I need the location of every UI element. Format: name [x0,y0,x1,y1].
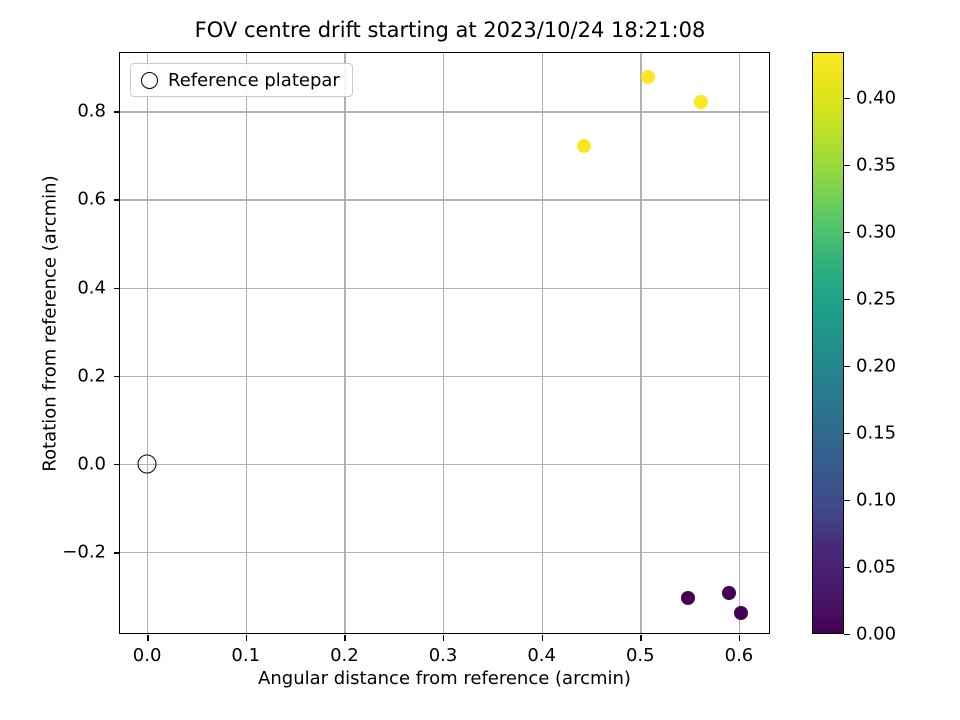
scatter-points-layer [120,53,769,633]
colorbar-tick [844,299,850,300]
x-axis-tick-label: 0.2 [330,645,359,666]
colorbar-tick-label: 0.20 [856,355,896,376]
colorbar-tick-label: 0.10 [856,489,896,510]
colorbar-tick [844,98,850,99]
x-axis-tick [739,635,740,641]
colorbar-tick [844,232,850,233]
x-axis-tick [443,635,444,641]
scatter-point [694,95,708,109]
y-axis-tick [114,552,120,553]
colorbar-tick-label: 0.00 [856,624,896,645]
y-axis-tick [114,111,120,112]
colorbar-tick-label: 0.25 [856,288,896,309]
scatter-point [577,139,591,153]
scatter-point [641,70,655,84]
x-axis-tick [640,635,641,641]
colorbar-tick-label: 0.30 [856,221,896,242]
y-axis-tick-label: 0.0 [77,454,106,475]
y-axis-tick [114,376,120,377]
legend-entry-label: Reference platepar [168,70,340,91]
y-axis-tick [114,288,120,289]
scatter-point [734,606,748,620]
y-axis-tick-label: 0.8 [77,101,106,122]
x-axis-tick-label: 0.1 [231,645,260,666]
x-axis-tick [344,635,345,641]
scatter-point [681,591,695,605]
chart-title: FOV centre drift starting at 2023/10/24 … [119,18,781,42]
x-axis-tick [246,635,247,641]
colorbar-tick [844,634,850,635]
y-axis-tick-label: −0.2 [62,542,106,563]
x-axis-tick-label: 0.0 [133,645,162,666]
y-axis-tick-label: 0.6 [77,189,106,210]
plot-axes: 0.00.10.20.30.40.50.6−0.20.00.20.40.60.8 [119,52,770,634]
x-axis-tick-label: 0.4 [527,645,556,666]
colorbar-tick-label: 0.35 [856,154,896,175]
x-axis-tick-label: 0.6 [725,645,754,666]
colorbar-tick-label: 0.40 [856,87,896,108]
reference-platepar-marker-icon [141,72,158,89]
y-axis-label: Rotation from reference (arcmin) [40,124,61,524]
x-axis-tick-label: 0.3 [429,645,458,666]
figure-canvas: FOV centre drift starting at 2023/10/24 … [0,0,960,720]
x-axis-tick [542,635,543,641]
colorbar: Hours from first FF file 0.000.050.100.1… [812,52,960,634]
colorbar-tick-label: 0.05 [856,556,896,577]
x-axis-label: Angular distance from reference (arcmin) [119,668,770,689]
scatter-point [722,586,736,600]
y-axis-tick-label: 0.2 [77,365,106,386]
colorbar-tick [844,165,850,166]
colorbar-tick-label: 0.15 [856,422,896,443]
colorbar-gradient [812,52,844,634]
x-axis-tick [147,635,148,641]
y-axis-tick [114,464,120,465]
y-axis-tick [114,199,120,200]
colorbar-tick [844,366,850,367]
colorbar-tick [844,567,850,568]
colorbar-tick [844,500,850,501]
x-axis-tick-label: 0.5 [626,645,655,666]
y-axis-tick-label: 0.4 [77,277,106,298]
colorbar-tick [844,433,850,434]
reference-platepar-point [138,455,157,474]
legend[interactable]: Reference platepar [130,63,353,97]
